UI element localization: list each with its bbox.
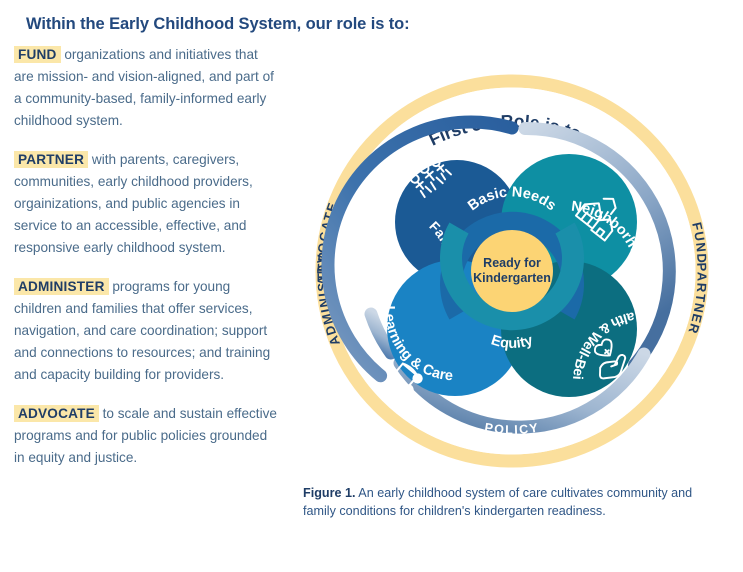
role-item-partner: PARTNER with parents, caregivers, commun… bbox=[14, 149, 280, 259]
role-item-advocate: ADVOCATE to scale and sustain effective … bbox=[14, 403, 280, 469]
role-item-administer: ADMINISTER programs for young children a… bbox=[14, 276, 280, 386]
figure-caption: Figure 1. An early childhood system of c… bbox=[303, 484, 723, 521]
page-title: Within the Early Childhood System, our r… bbox=[26, 15, 506, 34]
role-list: FUND organizations and initiatives that … bbox=[14, 44, 280, 486]
figure-caption-text: An early childhood system of care cultiv… bbox=[303, 486, 692, 518]
role-keyword-fund: FUND bbox=[14, 46, 61, 63]
middle-ring-label-place-text: PLACE bbox=[337, 241, 354, 290]
outer-ring-label-partner: PARTNER bbox=[685, 262, 709, 336]
figure-caption-label: Figure 1. bbox=[303, 486, 355, 500]
core-label-line2: Kindergarten bbox=[473, 271, 551, 285]
role-keyword-advocate: ADVOCATE bbox=[14, 405, 99, 422]
role-item-fund: FUND organizations and initiatives that … bbox=[14, 44, 280, 132]
diagram-svg: First 5's Role is to... ADVOCATE FUND PA… bbox=[297, 62, 727, 480]
outer-ring-label-partner-text: PARTNER bbox=[685, 262, 709, 336]
core-label-line1: Ready for bbox=[483, 256, 541, 270]
role-keyword-administer: ADMINISTER bbox=[14, 278, 109, 295]
early-childhood-system-diagram: First 5's Role is to... ADVOCATE FUND PA… bbox=[297, 62, 727, 480]
middle-ring-label-place: PLACE bbox=[337, 241, 354, 290]
role-keyword-partner: PARTNER bbox=[14, 151, 88, 168]
